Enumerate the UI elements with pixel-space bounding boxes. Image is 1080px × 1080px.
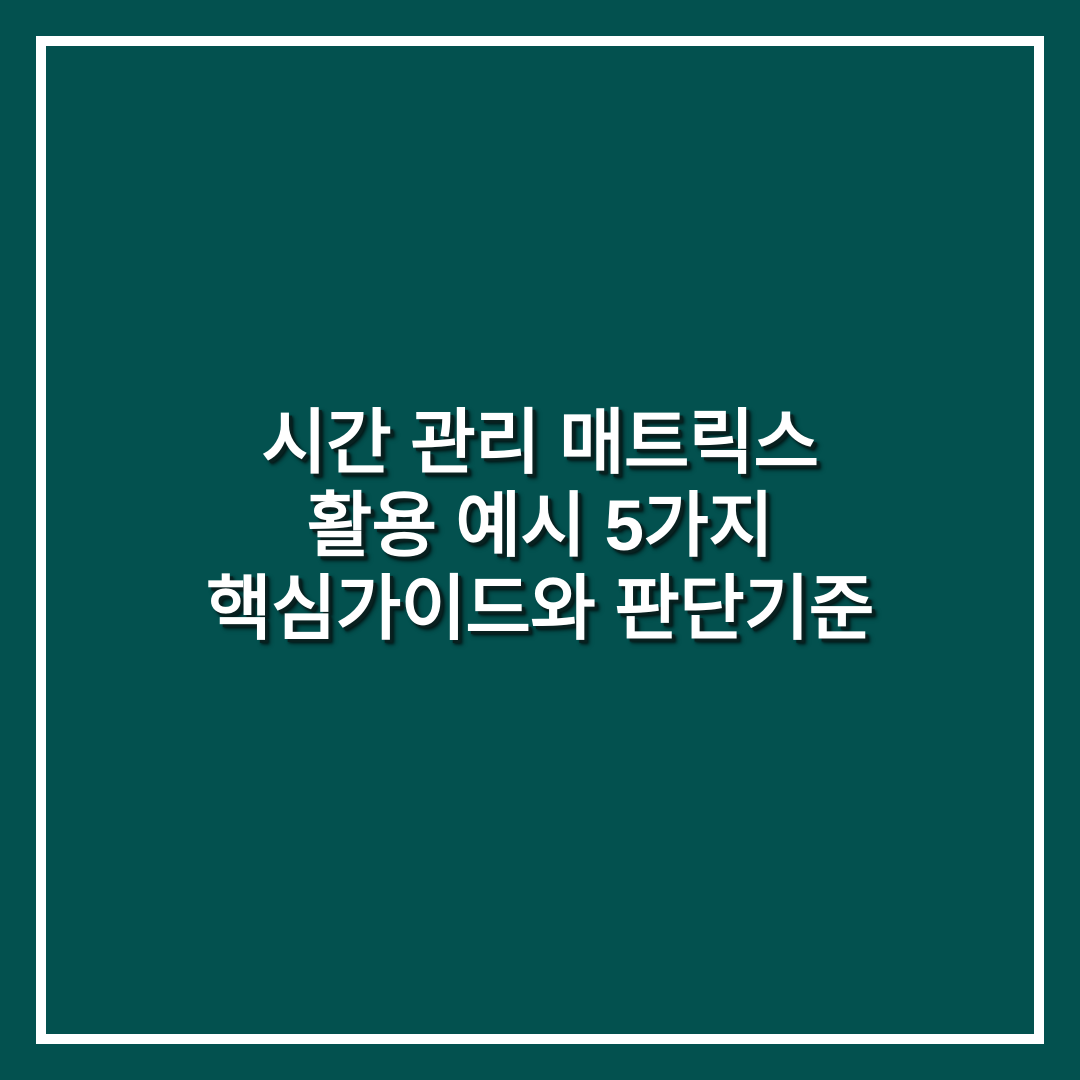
headline-block: 시간 관리 매트릭스 활용 예시 5가지 핵심가이드와 판단기준: [0, 0, 1080, 1080]
headline-line-2: 활용 예시 5가지: [0, 485, 1080, 568]
thumbnail-card: 시간 관리 매트릭스 활용 예시 5가지 핵심가이드와 판단기준: [0, 0, 1080, 1080]
headline-line-1: 시간 관리 매트릭스: [0, 402, 1080, 485]
headline-line-3: 핵심가이드와 판단기준: [0, 568, 1080, 651]
